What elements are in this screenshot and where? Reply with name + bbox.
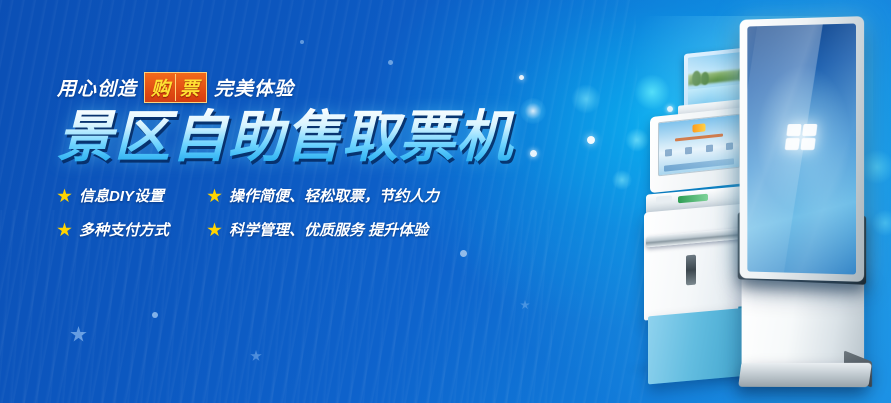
promo-banner: 用心创造 购 票 完美体验 景区自助售取票机 信息DIY设置 操作简便、轻松取票… [0, 0, 891, 403]
subline: 用心创造 购 票 完美体验 [57, 72, 527, 103]
bokeh-dot [152, 312, 158, 318]
feature-label: 信息DIY设置 [79, 185, 164, 206]
bokeh-dot [300, 40, 304, 44]
ticket-app-icon-row [665, 142, 732, 156]
list-item: 科学管理、优质服务 提升体验 [207, 219, 428, 240]
feature-row: 多种支付方式 科学管理、优质服务 提升体验 [57, 219, 527, 240]
subline-prefix: 用心创造 [57, 74, 137, 101]
star-icon [57, 222, 72, 237]
ticket-app-logo [693, 123, 706, 132]
bokeh-dot [388, 60, 393, 65]
subline-suffix: 完美体验 [214, 74, 294, 101]
screen-glass-reflection [747, 23, 829, 274]
kiosk-vertical-terminal [724, 18, 884, 388]
card-slot[interactable] [686, 255, 696, 286]
list-item: 操作简便、轻松取票，节约人力 [207, 185, 439, 206]
tag-char-1: 购 [147, 74, 175, 101]
ticket-app-title-bar [675, 133, 723, 141]
feature-row: 信息DIY设置 操作简便、轻松取票，节约人力 [57, 185, 527, 206]
star-icon [207, 222, 222, 237]
feature-list: 信息DIY设置 操作简便、轻松取票，节约人力 多种支付方式 科学管理、优质服务 … [57, 185, 527, 240]
kiosk-b-touchscreen[interactable] [747, 23, 856, 274]
feature-label: 操作简便、轻松取票，节约人力 [229, 185, 439, 206]
decorative-star-icon [520, 300, 530, 310]
feature-label: 多种支付方式 [79, 219, 169, 240]
banner-copy: 用心创造 购 票 完美体验 景区自助售取票机 信息DIY设置 操作简便、轻松取票… [57, 72, 527, 253]
bokeh-dot [530, 150, 537, 157]
list-item: 多种支付方式 [57, 219, 207, 240]
star-icon [207, 188, 222, 203]
highlight-tag: 购 票 [144, 72, 207, 103]
kiosk-b-bezel [740, 16, 864, 282]
page-title: 景区自助售取票机 [57, 107, 527, 167]
tree-shape [701, 71, 709, 85]
bokeh-dot [587, 136, 595, 144]
star-icon [57, 188, 72, 203]
kiosk-a-aux-pad[interactable] [656, 195, 672, 203]
bokeh-dot [571, 84, 601, 114]
decorative-star-icon [70, 326, 87, 343]
product-imagery [614, 0, 891, 403]
tag-char-2: 票 [175, 74, 204, 101]
tree-shape [692, 71, 701, 87]
kiosk-b-foot [738, 363, 872, 387]
feature-label: 科学管理、优质服务 提升体验 [229, 219, 428, 240]
decorative-star-icon [250, 350, 262, 362]
list-item: 信息DIY设置 [57, 185, 207, 206]
